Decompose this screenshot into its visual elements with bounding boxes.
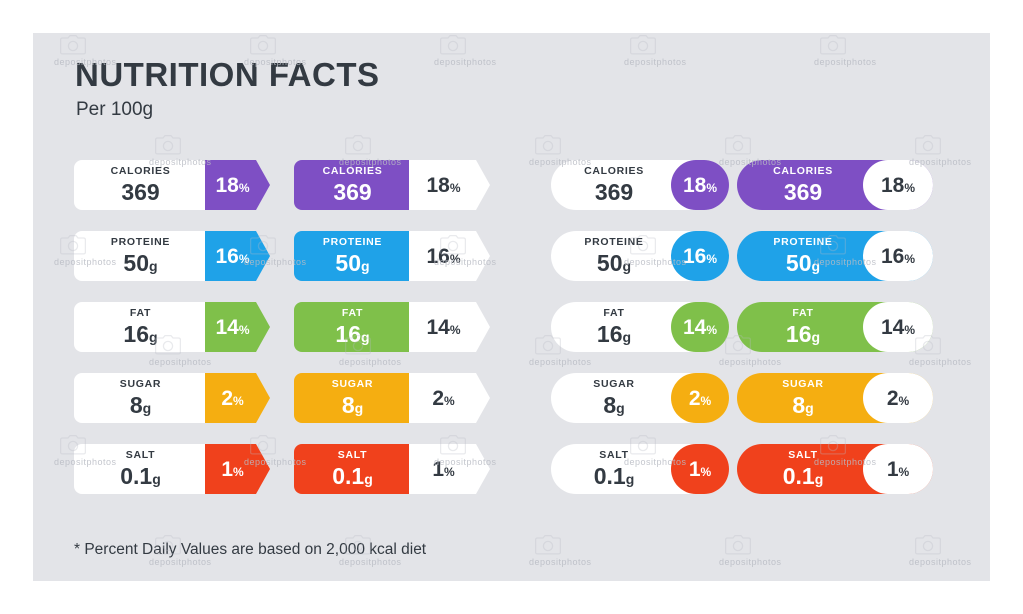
nutrient-row-fat: FAT 16g 14% (551, 302, 729, 352)
percent-sign: % (239, 181, 250, 195)
percent-sign: % (450, 181, 461, 195)
nutrient-percent-badge: 1% (409, 444, 490, 494)
nutrient-info: CALORIES 369 (294, 160, 423, 210)
nutrient-row-salt: SALT 0.1g 1% (294, 444, 490, 494)
nutrient-unit: g (623, 329, 632, 345)
percent-sign: % (899, 394, 910, 408)
nutrient-label: SUGAR (120, 379, 161, 390)
percent-value: 14 (426, 316, 449, 339)
percent-value: 14 (683, 316, 706, 339)
nutrient-percent-badge: 2% (205, 373, 270, 423)
nutrient-unit: g (812, 329, 821, 345)
percent-value: 18 (881, 174, 904, 197)
nutrient-percent-badge: 2% (409, 373, 490, 423)
percent-value: 16 (683, 245, 706, 268)
percent-value: 1 (221, 458, 233, 481)
nutrient-percent-badge: 2% (863, 373, 933, 423)
nutrient-label: SUGAR (332, 379, 373, 390)
percent-sign: % (706, 252, 717, 266)
nutrient-percent-badge: 16% (205, 231, 270, 281)
nutrient-percent-badge: 14% (863, 302, 933, 352)
percent-sign: % (706, 323, 717, 337)
nutrient-percent-badge: 1% (205, 444, 270, 494)
nutrient-percent-badge: 14% (409, 302, 490, 352)
nutrient-label: PROTEINE (323, 237, 382, 248)
percent-sign: % (450, 323, 461, 337)
percent-value: 1 (887, 458, 899, 481)
percent-sign: % (239, 323, 250, 337)
percent-value: 16 (881, 245, 904, 268)
nutrient-row-fat: FAT 16g 14% (737, 302, 933, 352)
nutrient-value: 8g (130, 394, 151, 417)
percent-value: 14 (881, 316, 904, 339)
nutrient-row-calories: CALORIES 369 18% (737, 160, 933, 210)
infographic-canvas: NUTRITION FACTS Per 100g CALORIES 369 18… (0, 0, 1023, 614)
nutrient-row-sugar: SUGAR 8g 2% (737, 373, 933, 423)
percent-value: 2 (887, 387, 899, 410)
nutrient-unit: g (815, 471, 824, 487)
nutrient-row-salt: SALT 0.1g 1% (737, 444, 933, 494)
nutrient-percent-badge: 14% (671, 302, 729, 352)
nutrient-row-calories: CALORIES 369 18% (551, 160, 729, 210)
percent-sign: % (444, 394, 455, 408)
nutrient-column-4: CALORIES 369 18% PROTEINE 50g 16% FAT 16… (737, 160, 933, 515)
page-subtitle: Per 100g (76, 99, 153, 121)
percent-value: 18 (683, 174, 706, 197)
percent-sign: % (450, 252, 461, 266)
nutrient-unit: g (361, 258, 370, 274)
nutrient-value: 8g (603, 394, 624, 417)
percent-sign: % (904, 323, 915, 337)
nutrient-unit: g (143, 400, 152, 416)
nutrient-row-proteine: PROTEINE 50g 16% (74, 231, 270, 281)
nutrient-percent-badge: 18% (671, 160, 729, 210)
nutrient-row-sugar: SUGAR 8g 2% (551, 373, 729, 423)
nutrient-percent-badge: 16% (671, 231, 729, 281)
nutrient-value: 50g (786, 252, 820, 275)
nutrient-row-sugar: SUGAR 8g 2% (74, 373, 270, 423)
nutrient-label: CALORIES (773, 166, 833, 177)
nutrient-unit: g (616, 400, 625, 416)
nutrient-percent-badge: 16% (409, 231, 490, 281)
nutrient-unit: g (623, 258, 632, 274)
nutrient-unit: g (812, 258, 821, 274)
nutrient-unit: g (805, 400, 814, 416)
percent-sign: % (904, 252, 915, 266)
nutrient-info: PROTEINE 50g (294, 231, 423, 281)
nutrient-unit: g (149, 329, 158, 345)
percent-sign: % (233, 465, 244, 479)
percent-value: 2 (689, 387, 701, 410)
nutrient-percent-badge: 18% (409, 160, 490, 210)
percent-value: 2 (221, 387, 233, 410)
nutrient-unit: g (361, 329, 370, 345)
nutrient-info: SUGAR 8g (294, 373, 423, 423)
percent-value: 2 (432, 387, 444, 410)
percent-sign: % (701, 465, 712, 479)
percent-sign: % (239, 252, 250, 266)
nutrient-row-fat: FAT 16g 14% (74, 302, 270, 352)
nutrient-label: SALT (126, 450, 155, 461)
percent-sign: % (701, 394, 712, 408)
percent-value: 16 (426, 245, 449, 268)
nutrient-value: 0.1g (120, 465, 161, 488)
nutrient-label: FAT (130, 308, 151, 319)
percent-value: 18 (215, 174, 238, 197)
nutrient-label: PROTEINE (773, 237, 832, 248)
nutrient-info: SALT 0.1g (294, 444, 423, 494)
nutrient-row-fat: FAT 16g 14% (294, 302, 490, 352)
nutrient-unit: g (355, 400, 364, 416)
nutrient-label: SALT (338, 450, 367, 461)
nutrient-column-1: CALORIES 369 18% PROTEINE 50g 16% FAT 16… (74, 160, 270, 515)
nutrient-row-proteine: PROTEINE 50g 16% (294, 231, 490, 281)
nutrient-info: PROTEINE 50g (74, 231, 219, 281)
nutrient-percent-badge: 18% (205, 160, 270, 210)
nutrient-value: 16g (123, 323, 157, 346)
nutrient-row-proteine: PROTEINE 50g 16% (737, 231, 933, 281)
nutrient-label: SUGAR (593, 379, 634, 390)
percent-sign: % (233, 394, 244, 408)
nutrient-value: 0.1g (594, 465, 635, 488)
nutrient-percent-badge: 16% (863, 231, 933, 281)
nutrient-value: 16g (786, 323, 820, 346)
nutrient-column-3: CALORIES 369 18% PROTEINE 50g 16% FAT 16… (551, 160, 729, 515)
nutrient-row-proteine: PROTEINE 50g 16% (551, 231, 729, 281)
percent-value: 1 (689, 458, 701, 481)
page-title: NUTRITION FACTS (75, 58, 379, 91)
nutrient-row-salt: SALT 0.1g 1% (74, 444, 270, 494)
nutrient-unit: g (149, 258, 158, 274)
nutrient-value: 50g (335, 252, 369, 275)
percent-value: 16 (215, 245, 238, 268)
nutrient-unit: g (626, 471, 635, 487)
nutrient-value: 369 (784, 181, 822, 204)
nutrient-label: SUGAR (782, 379, 823, 390)
nutrient-percent-badge: 1% (671, 444, 729, 494)
nutrient-value: 8g (792, 394, 813, 417)
nutrient-info: FAT 16g (294, 302, 423, 352)
nutrient-info: SUGAR 8g (74, 373, 219, 423)
nutrient-column-2: CALORIES 369 18% PROTEINE 50g 16% FAT 16… (294, 160, 490, 515)
percent-value: 18 (426, 174, 449, 197)
nutrient-label: CALORIES (584, 166, 644, 177)
nutrient-label: SALT (788, 450, 817, 461)
nutrient-info: FAT 16g (74, 302, 219, 352)
percent-sign: % (706, 181, 717, 195)
nutrient-value: 0.1g (783, 465, 824, 488)
nutrient-value: 8g (342, 394, 363, 417)
percent-value: 14 (215, 316, 238, 339)
percent-value: 1 (432, 458, 444, 481)
nutrient-label: FAT (792, 308, 813, 319)
nutrient-label: PROTEINE (111, 237, 170, 248)
nutrient-label: CALORIES (323, 166, 383, 177)
nutrient-label: PROTEINE (584, 237, 643, 248)
nutrient-percent-badge: 18% (863, 160, 933, 210)
nutrient-row-calories: CALORIES 369 18% (74, 160, 270, 210)
nutrient-value: 369 (121, 181, 159, 204)
nutrient-unit: g (364, 471, 373, 487)
percent-sign: % (899, 465, 910, 479)
nutrient-row-salt: SALT 0.1g 1% (551, 444, 729, 494)
nutrient-label: FAT (342, 308, 363, 319)
nutrient-percent-badge: 1% (863, 444, 933, 494)
percent-sign: % (444, 465, 455, 479)
nutrient-value: 369 (333, 181, 371, 204)
nutrient-info: SALT 0.1g (74, 444, 219, 494)
nutrient-value: 16g (335, 323, 369, 346)
nutrient-label: FAT (603, 308, 624, 319)
nutrient-value: 50g (597, 252, 631, 275)
percent-sign: % (904, 181, 915, 195)
nutrient-value: 0.1g (332, 465, 373, 488)
nutrient-percent-badge: 14% (205, 302, 270, 352)
nutrient-percent-badge: 2% (671, 373, 729, 423)
nutrient-label: CALORIES (111, 166, 171, 177)
nutrient-row-sugar: SUGAR 8g 2% (294, 373, 490, 423)
nutrient-value: 50g (123, 252, 157, 275)
footnote: * Percent Daily Values are based on 2,00… (74, 541, 426, 559)
nutrient-info: CALORIES 369 (74, 160, 219, 210)
nutrient-value: 369 (595, 181, 633, 204)
nutrient-unit: g (152, 471, 161, 487)
nutrient-value: 16g (597, 323, 631, 346)
nutrient-row-calories: CALORIES 369 18% (294, 160, 490, 210)
nutrient-label: SALT (599, 450, 628, 461)
